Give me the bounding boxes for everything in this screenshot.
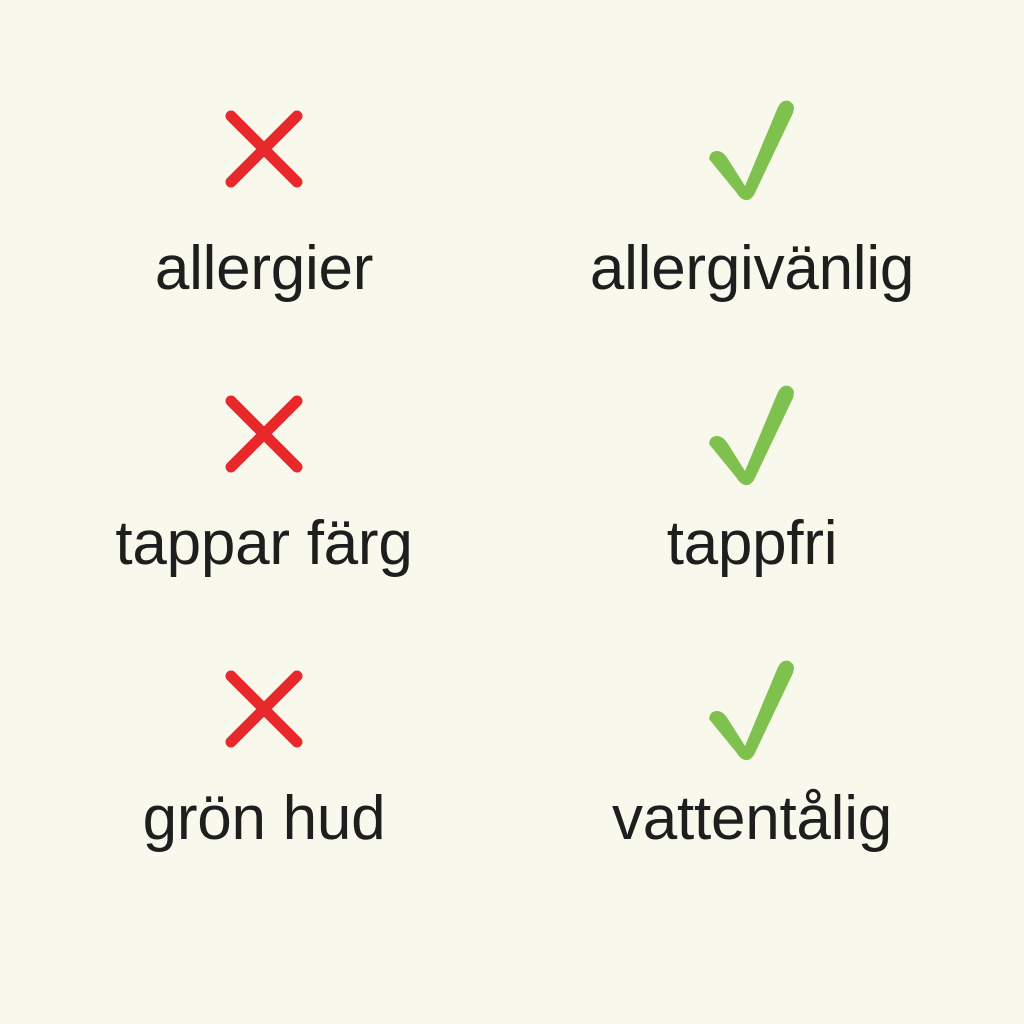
comparison-grid: allergier allergivänlig tappar färg: [0, 0, 1024, 900]
comparison-label: allergivänlig: [590, 238, 914, 300]
cross-icon: [209, 654, 319, 764]
comparison-cell-negative-2: tappar färg: [0, 300, 512, 575]
comparison-cell-positive-3: vattentålig: [512, 575, 1024, 850]
comparison-cell-negative-3: grön hud: [0, 575, 512, 850]
comparison-board: allergier allergivänlig tappar färg: [0, 0, 1024, 1024]
comparison-cell-positive-2: tappfri: [512, 300, 1024, 575]
comparison-label: tappfri: [667, 513, 838, 575]
comparison-label: vattentålig: [612, 788, 892, 850]
comparison-label: allergier: [155, 238, 373, 300]
cross-icon: [209, 379, 319, 489]
check-icon: [697, 654, 807, 764]
check-icon: [697, 94, 807, 204]
cross-icon: [209, 94, 319, 204]
comparison-label: tappar färg: [115, 513, 412, 575]
comparison-label: grön hud: [143, 788, 386, 850]
comparison-cell-negative-1: allergier: [0, 0, 512, 300]
comparison-cell-positive-1: allergivänlig: [512, 0, 1024, 300]
check-icon: [697, 379, 807, 489]
